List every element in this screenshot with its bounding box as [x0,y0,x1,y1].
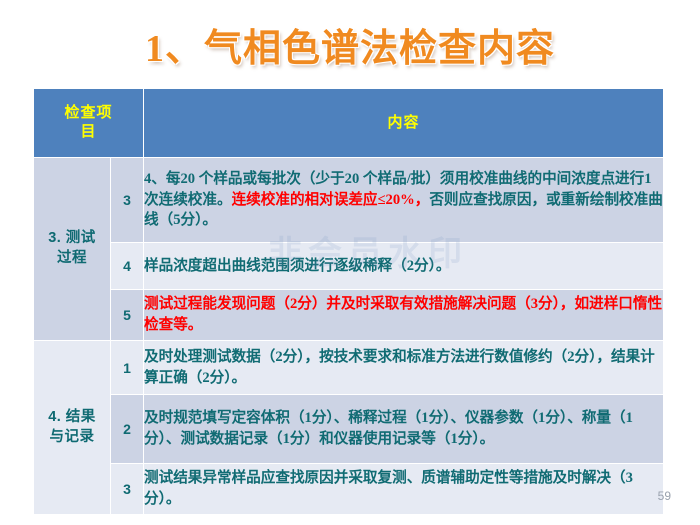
table-row: 4. 结果 与记录 1 及时处理测试数据（2分），按技术要求和标准方法进行数值修… [34,341,664,395]
slide-page-number: 59 [658,489,671,503]
row-number: 5 [111,290,144,341]
row-number: 3 [111,158,144,243]
row-content-segment-highlight: 连续校准的相对误差应≤20%， [232,192,430,208]
header-cell-item: 检查项 目 [34,89,144,158]
row-content-segment: 及时规范填写定容体积（1分）、稀释过程（1分）、仪器参数（1分）、称量（1分）、… [144,410,633,447]
table-row: 5 测试过程能发现问题（2分）并及时采取有效措施解决问题（3分），如进样口惰性检… [34,290,664,341]
row-content-segment: 样品浓度超出曲线范围须进行逐级稀释（2分）。 [144,258,450,274]
group-label-line1: 3. 测试 [48,230,96,246]
header-item-line1: 检查项 [64,105,112,121]
row-number: 1 [111,341,144,395]
row-number: 2 [111,395,144,464]
row-content-segment-highlight: 测试过程能发现问题（2分）并及时采取有效措施解决问题（3分），如进样口惰性检查等… [144,296,662,333]
slide-canvas: 1、气相色谱法检查内容 非会员水印 检查项 目 内容 3. 测试 过程 [0,0,700,525]
group-label-line1: 4. 结果 [48,409,96,425]
row-number: 4 [111,243,144,290]
row-content-segment: 测试结果异常样品应查找原因并采取复测、质谱辅助定性等措施及时解决（3分）。 [144,470,633,507]
table-header-row: 检查项 目 内容 [34,89,664,158]
row-number: 3 [111,464,144,515]
header-item-line2: 目 [80,124,96,140]
row-content: 测试过程能发现问题（2分）并及时采取有效措施解决问题（3分），如进样口惰性检查等… [144,290,664,341]
group-label-line2: 过程 [57,250,87,266]
table-row: 2 及时规范填写定容体积（1分）、稀释过程（1分）、仪器参数（1分）、称量（1分… [34,395,664,464]
table-row: 3 测试结果异常样品应查找原因并采取复测、质谱辅助定性等措施及时解决（3分）。 [34,464,664,515]
row-content: 及时处理测试数据（2分），按技术要求和标准方法进行数值修约（2分），结果计算正确… [144,341,664,395]
inspection-content-table: 检查项 目 内容 3. 测试 过程 3 4、每20 个样品或每批次（少于20 个… [33,88,664,515]
group-label-line2: 与记录 [50,429,95,445]
page-title: 1、气相色谱法检查内容 [0,17,700,72]
table-row: 4 样品浓度超出曲线范围须进行逐级稀释（2分）。 [34,243,664,290]
row-content: 样品浓度超出曲线范围须进行逐级稀释（2分）。 [144,243,664,290]
row-content: 测试结果异常样品应查找原因并采取复测、质谱辅助定性等措施及时解决（3分）。 [144,464,664,515]
group-label-results-records: 4. 结果 与记录 [34,341,111,515]
row-content: 及时规范填写定容体积（1分）、稀释过程（1分）、仪器参数（1分）、称量（1分）、… [144,395,664,464]
header-cell-content: 内容 [144,89,664,158]
row-content-segment: 及时处理测试数据（2分），按技术要求和标准方法进行数值修约（2分），结果计算正确… [144,349,655,386]
table-row: 3. 测试 过程 3 4、每20 个样品或每批次（少于20 个样品/批）须用校准… [34,158,664,243]
row-content: 4、每20 个样品或每批次（少于20 个样品/批）须用校准曲线的中间浓度点进行1… [144,158,664,243]
group-label-testing-process: 3. 测试 过程 [34,158,111,341]
